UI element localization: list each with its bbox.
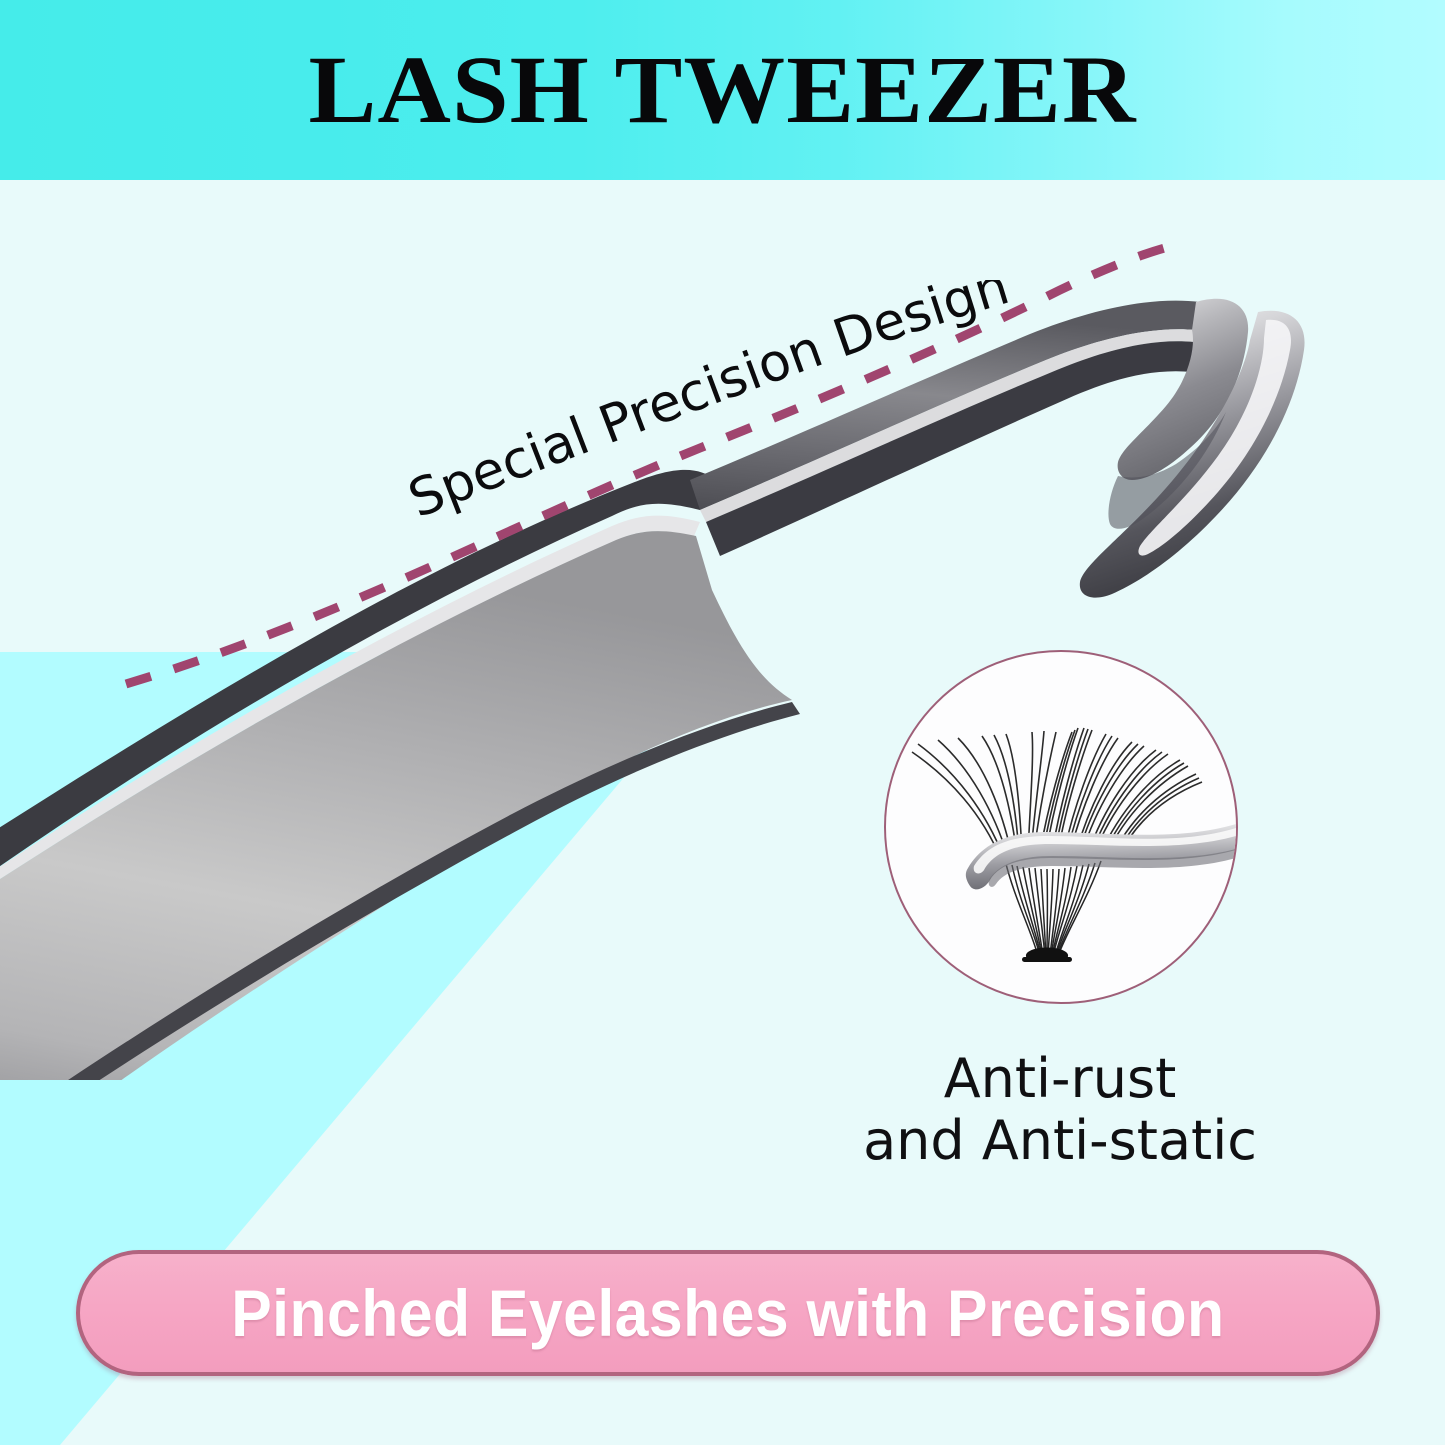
special-precision-design-label: Special Precision Design bbox=[400, 280, 1120, 540]
product-marketing-image: LASH TWEEZER bbox=[0, 0, 1445, 1445]
lash-fan-graphic bbox=[886, 652, 1236, 1002]
tagline-banner: Pinched Eyelashes with Precision bbox=[76, 1250, 1380, 1376]
precision-label-text: Special Precision Design bbox=[401, 280, 1016, 530]
page-title: LASH TWEEZER bbox=[0, 42, 1445, 138]
header-band: LASH TWEEZER bbox=[0, 0, 1445, 180]
inset-caption: Anti-rust and Anti-static bbox=[820, 1048, 1300, 1172]
lash-fan-inset bbox=[884, 650, 1238, 1004]
tagline-banner-label: Pinched Eyelashes with Precision bbox=[231, 1280, 1224, 1346]
